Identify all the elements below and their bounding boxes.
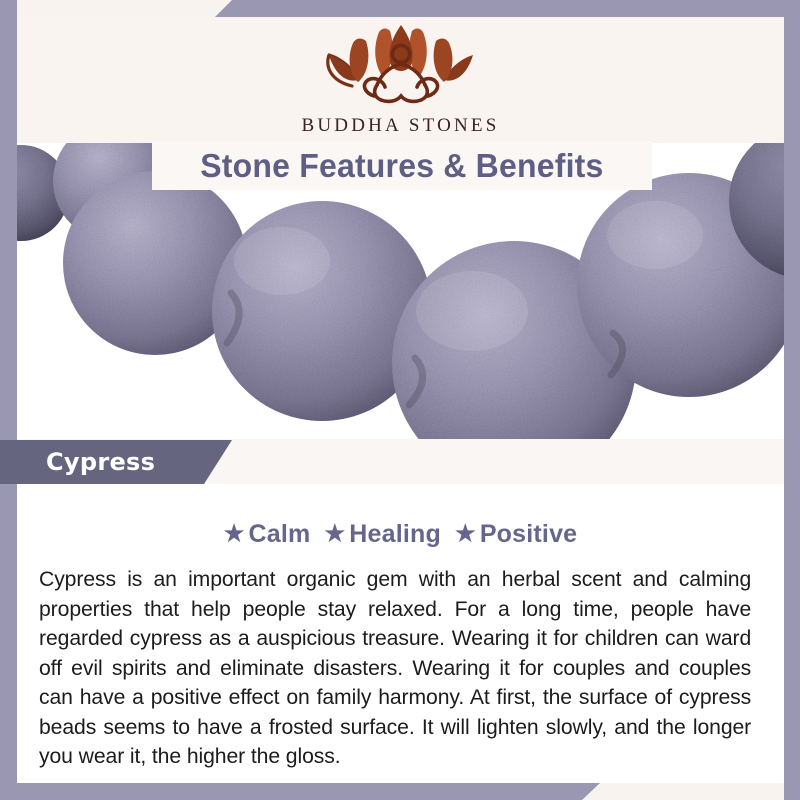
keyword-item-positive: ★Positive [455,520,577,549]
frame-border-bottom [0,783,800,800]
description-section: ★Calm★Healing★Positive Cypress is an imp… [17,484,784,783]
keyword-item-calm: ★Calm [224,520,311,549]
keyword-label: Healing [349,520,441,548]
frame-border-left [0,0,17,800]
stone-name-banner: Cypress [0,440,232,484]
brand-header: BUDDHA STONES [17,17,784,143]
keyword-label: Positive [480,520,577,548]
stone-name-label: Cypress [46,448,155,476]
keyword-list: ★Calm★Healing★Positive [39,520,762,549]
keyword-label: Calm [249,520,311,548]
keyword-item-healing: ★Healing [324,520,441,549]
star-icon: ★ [455,520,476,547]
frame-border-right [784,0,800,800]
page-title: Stone Features & Benefits [200,147,603,185]
lotus-meditation-icon [311,23,491,113]
description-paragraph: Cypress is an important organic gem with… [39,565,751,772]
logo: BUDDHA STONES [301,23,499,137]
frame-border-top [0,0,800,17]
title-band: Stone Features & Benefits [152,141,652,190]
star-icon: ★ [224,520,245,547]
brand-name: BUDDHA STONES [301,115,499,137]
infographic-page: BUDDHA STONES Stone Features & Benefits … [0,0,800,800]
star-icon: ★ [324,520,345,547]
